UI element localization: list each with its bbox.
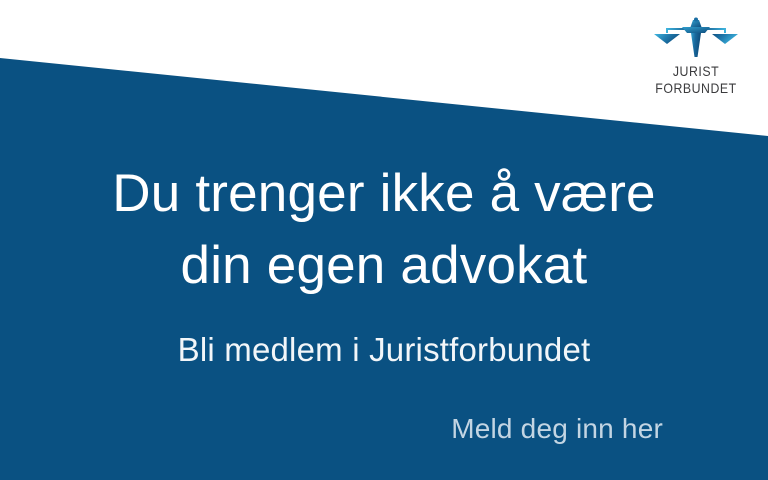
logo-wordmark-line-2: FORBUNDET — [647, 80, 746, 97]
advertisement-banner: JURIST FORBUNDET Du trenger ikke å være … — [0, 0, 768, 480]
logo-wordmark-line-1: JURIST — [647, 63, 746, 80]
headline-line-1: Du trenger ikke å være — [0, 158, 768, 230]
headline-line-2: din egen advokat — [0, 230, 768, 302]
logo-wordmark: JURIST FORBUNDET — [647, 63, 746, 96]
subheading: Bli medlem i Juristforbundet — [0, 329, 768, 371]
scales-of-justice-icon — [651, 16, 741, 60]
signup-cta-link[interactable]: Meld deg inn her — [0, 411, 768, 447]
juristforbundet-logo[interactable]: JURIST FORBUNDET — [640, 16, 752, 102]
headline: Du trenger ikke å være din egen advokat — [0, 158, 768, 302]
